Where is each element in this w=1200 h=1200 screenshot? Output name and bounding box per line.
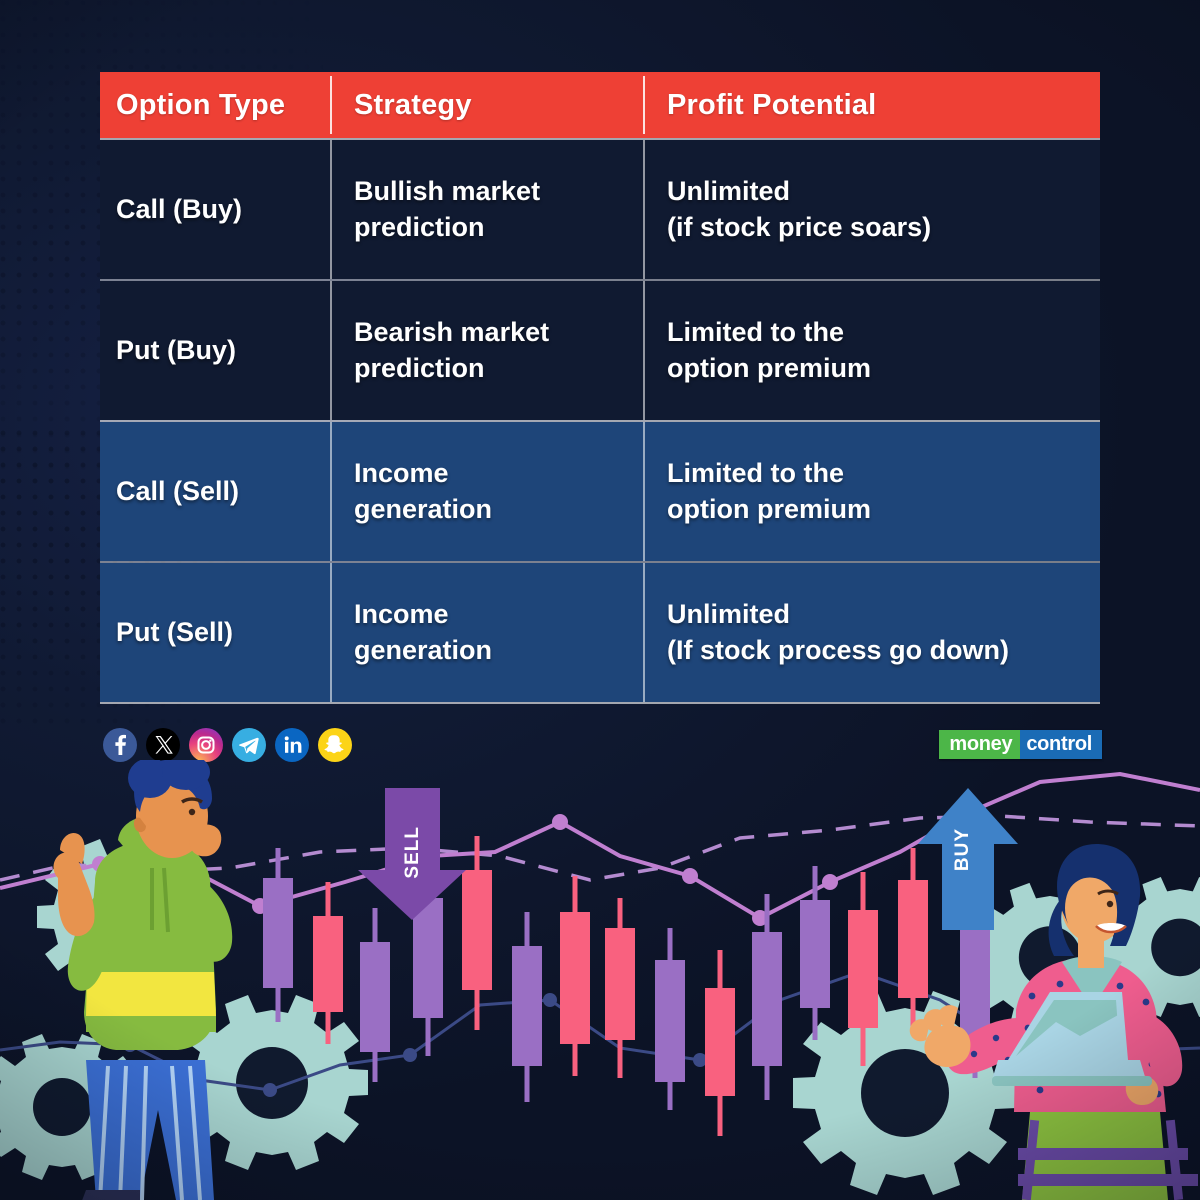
infographic-canvas: Option Type Strategy Profit Potential Ca… (0, 0, 1200, 1200)
vignette-overlay (0, 0, 1200, 1200)
